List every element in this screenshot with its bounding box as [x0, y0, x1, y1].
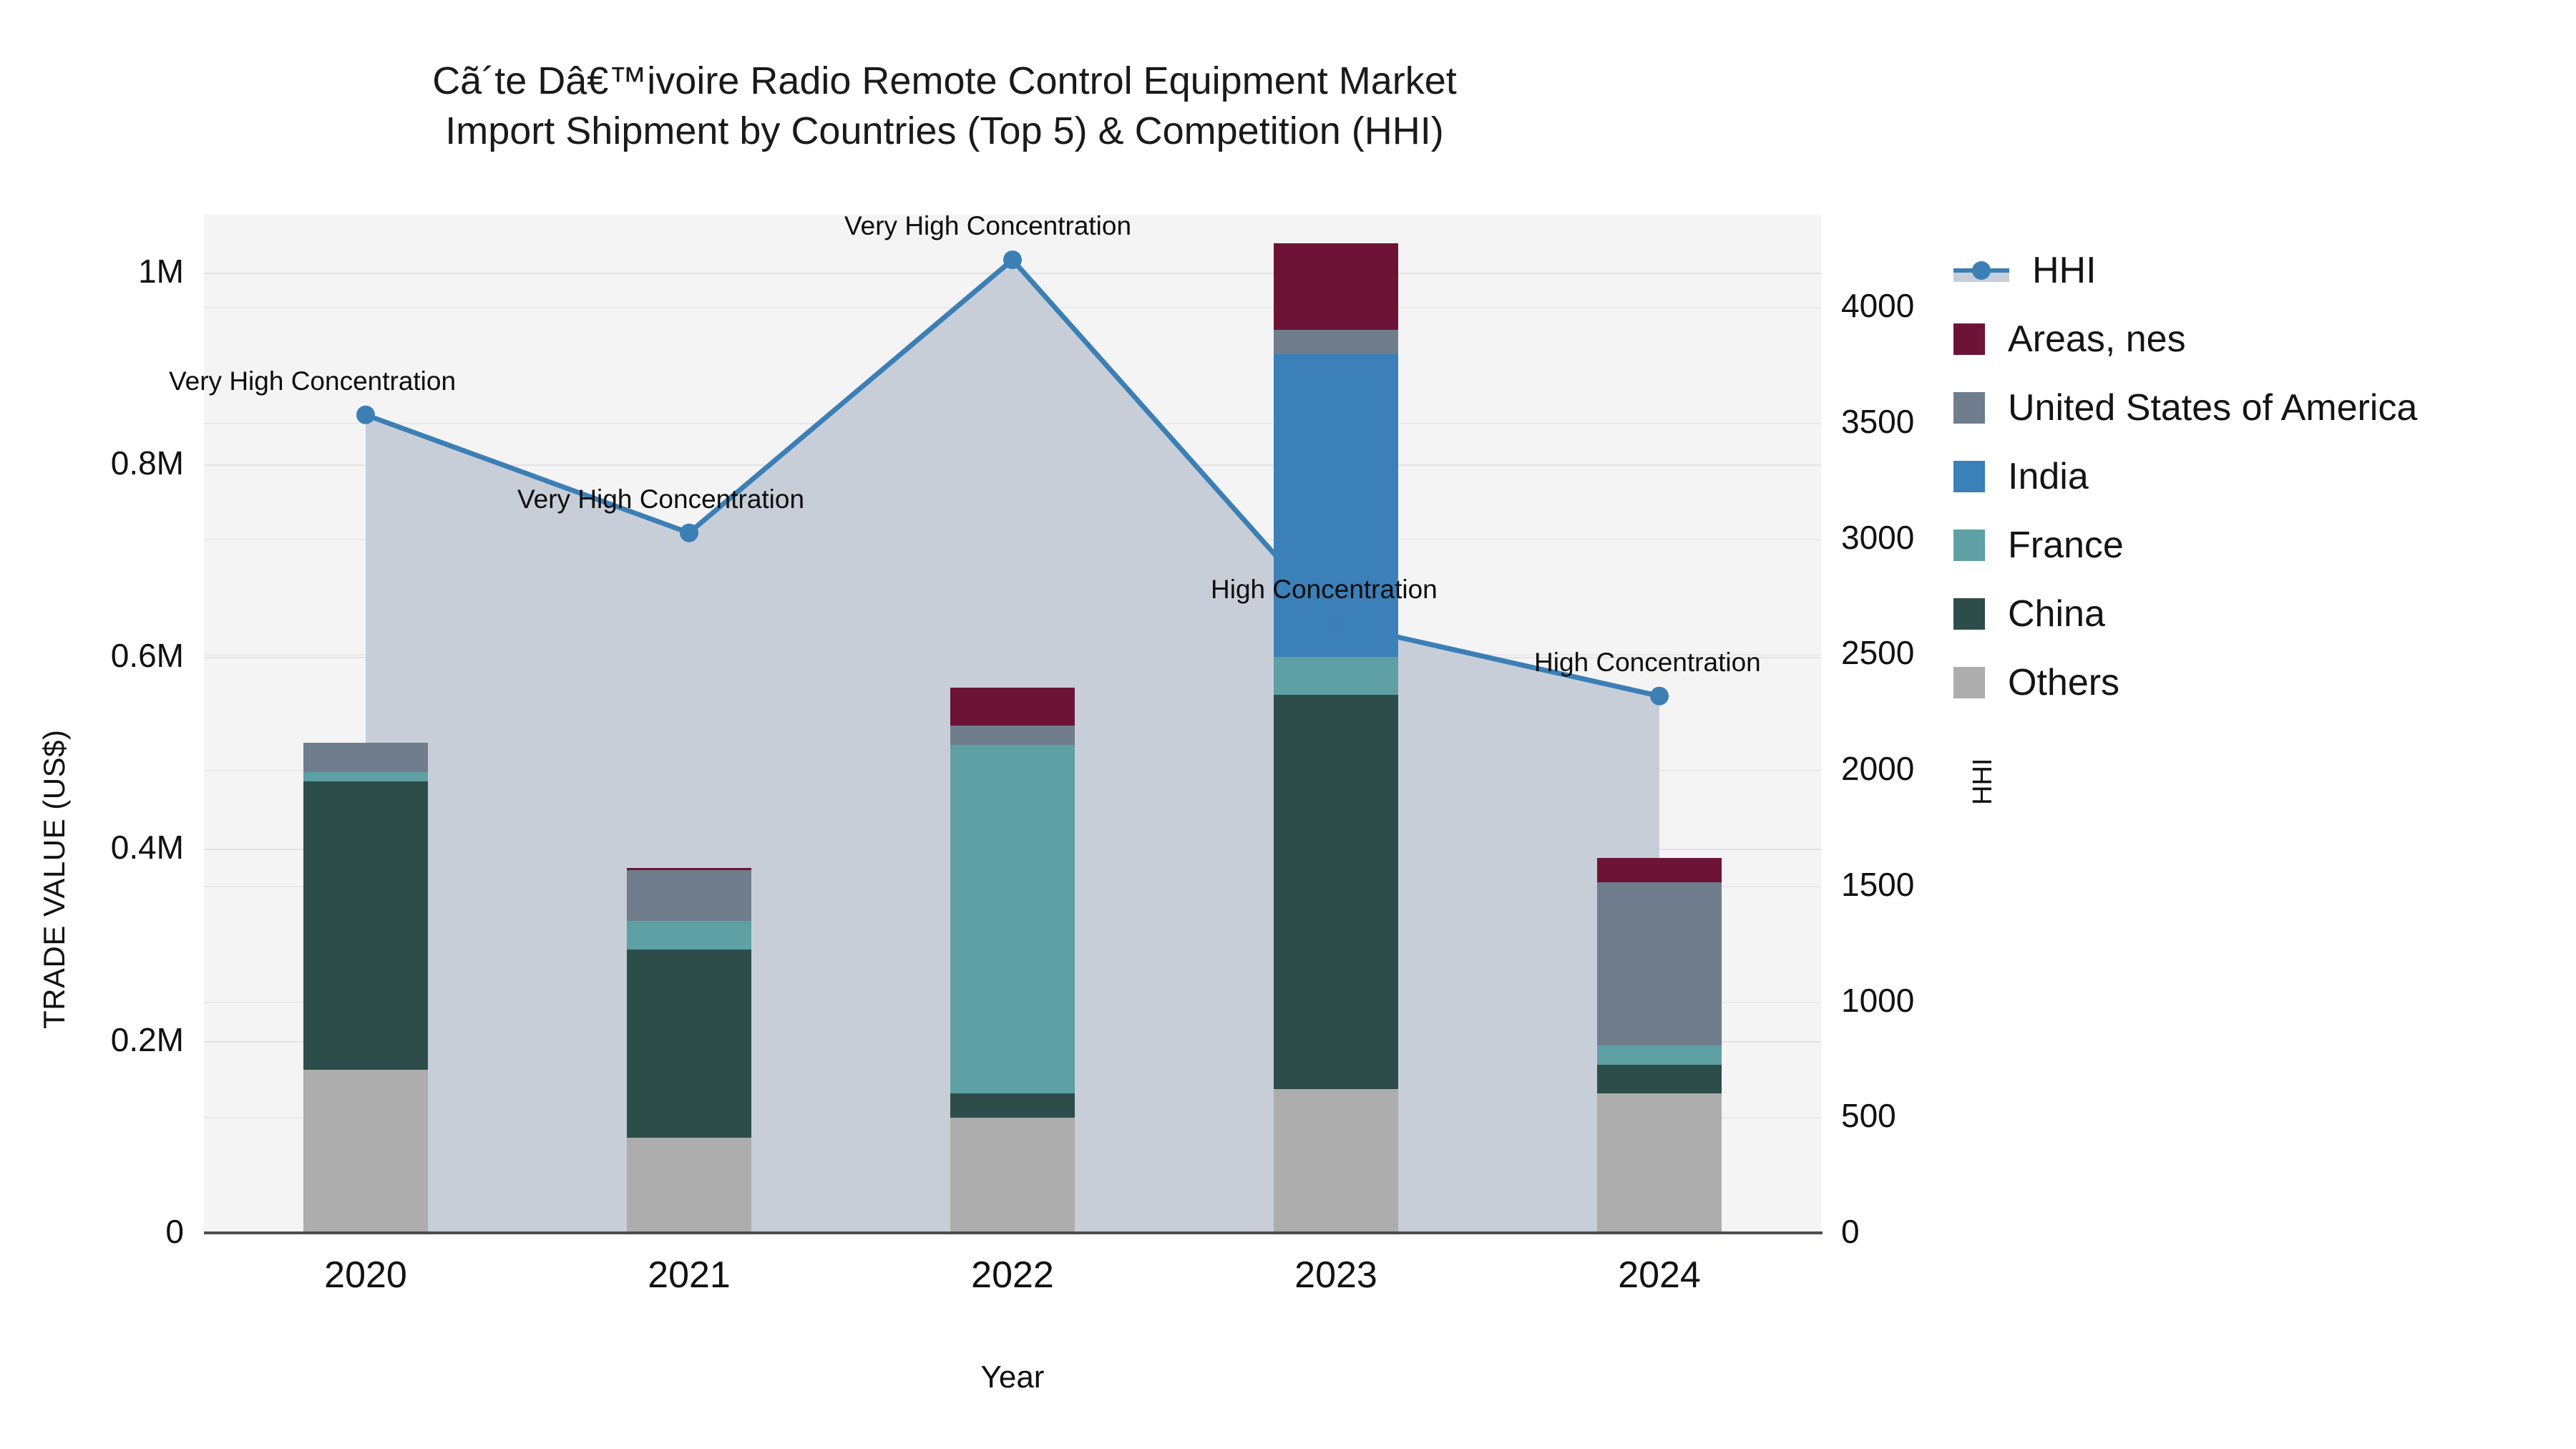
- legend-item[interactable]: Others: [1953, 648, 2417, 717]
- y-axis-left-tick-label: 0.2M: [111, 1020, 184, 1059]
- chart-title: Cã´te Dâ€™ivoire Radio Remote Control Eq…: [0, 56, 1889, 156]
- legend-item-label: HHI: [2032, 249, 2097, 292]
- hhi-marker[interactable]: [1327, 614, 1345, 633]
- x-axis-line: [204, 1231, 1823, 1234]
- legend-item[interactable]: India: [1953, 442, 2417, 511]
- legend-item[interactable]: Areas, nes: [1953, 305, 2417, 374]
- legend-item[interactable]: China: [1953, 580, 2417, 648]
- y-axis-right-tick-label: 1500: [1841, 865, 1914, 904]
- legend-color-swatch: [1953, 392, 1985, 424]
- legend-item-label: United States of America: [2008, 386, 2417, 429]
- hhi-annotation-2024: High Concentration: [1534, 648, 1761, 678]
- legend-line-marker-icon: [1953, 255, 2009, 286]
- legend-item-label: France: [2008, 524, 2124, 567]
- x-axis-tick-label-2022: 2022: [927, 1254, 1098, 1297]
- legend-color-swatch: [1953, 323, 1985, 355]
- legend-item[interactable]: United States of America: [1953, 374, 2417, 442]
- chart-canvas: Cã´te Dâ€™ivoire Radio Remote Control Eq…: [0, 0, 2576, 1449]
- legend-item-label: China: [2008, 592, 2105, 635]
- hhi-annotation-2022: Very High Concentration: [844, 211, 1131, 241]
- y-axis-left-tick-label: 0: [165, 1212, 184, 1251]
- legend-item-label: Areas, nes: [2008, 318, 2186, 361]
- hhi-marker[interactable]: [356, 406, 375, 424]
- hhi-marker[interactable]: [1650, 687, 1669, 706]
- x-axis-tick-label-2023: 2023: [1250, 1254, 1422, 1297]
- y-axis-right-tick-label: 500: [1841, 1096, 1896, 1135]
- legend-color-swatch: [1953, 667, 1985, 698]
- y-axis-left-tick-label: 1M: [138, 252, 184, 291]
- x-axis-title: Year: [905, 1360, 1120, 1395]
- x-axis-tick-label-2020: 2020: [280, 1254, 452, 1297]
- y-axis-right-title: HHI: [1968, 758, 1999, 805]
- y-axis-right-tick-label: 1000: [1841, 981, 1914, 1020]
- y-axis-right-tick-label: 2000: [1841, 749, 1914, 788]
- y-axis-left-title: TRADE VALUE (US$): [37, 730, 72, 1029]
- hhi-marker[interactable]: [680, 524, 698, 542]
- legend: HHIAreas, nesUnited States of AmericaInd…: [1953, 236, 2417, 717]
- y-axis-left-tick-label: 0.8M: [111, 444, 184, 482]
- legend-item-label: India: [2008, 455, 2089, 498]
- x-axis-tick-label-2024: 2024: [1574, 1254, 1745, 1297]
- chart-title-line-2: Import Shipment by Countries (Top 5) & C…: [0, 106, 1889, 156]
- legend-color-swatch: [1953, 530, 1985, 561]
- chart-title-line-1: Cã´te Dâ€™ivoire Radio Remote Control Eq…: [0, 56, 1889, 106]
- legend-color-swatch: [1953, 461, 1985, 492]
- hhi-annotation-2023: High Concentration: [1211, 575, 1438, 605]
- y-axis-right-tick-label: 3000: [1841, 518, 1914, 557]
- legend-item[interactable]: France: [1953, 511, 2417, 580]
- hhi-annotation-2021: Very High Concentration: [517, 484, 804, 514]
- y-axis-right-tick-label: 4000: [1841, 286, 1914, 325]
- y-axis-right-tick-label: 0: [1841, 1212, 1860, 1251]
- y-axis-left-tick-label: 0.4M: [111, 828, 184, 867]
- y-axis-right-tick-label: 3500: [1841, 402, 1914, 441]
- legend-color-swatch: [1953, 598, 1985, 630]
- y-axis-left-tick-label: 0.6M: [111, 636, 184, 675]
- y-axis-right-tick-label: 2500: [1841, 633, 1914, 672]
- hhi-annotation-2020: Very High Concentration: [169, 366, 456, 396]
- hhi-marker[interactable]: [1003, 250, 1022, 269]
- legend-item[interactable]: HHI: [1953, 236, 2417, 305]
- x-axis-tick-label-2021: 2021: [603, 1254, 775, 1297]
- legend-item-label: Others: [2008, 661, 2119, 704]
